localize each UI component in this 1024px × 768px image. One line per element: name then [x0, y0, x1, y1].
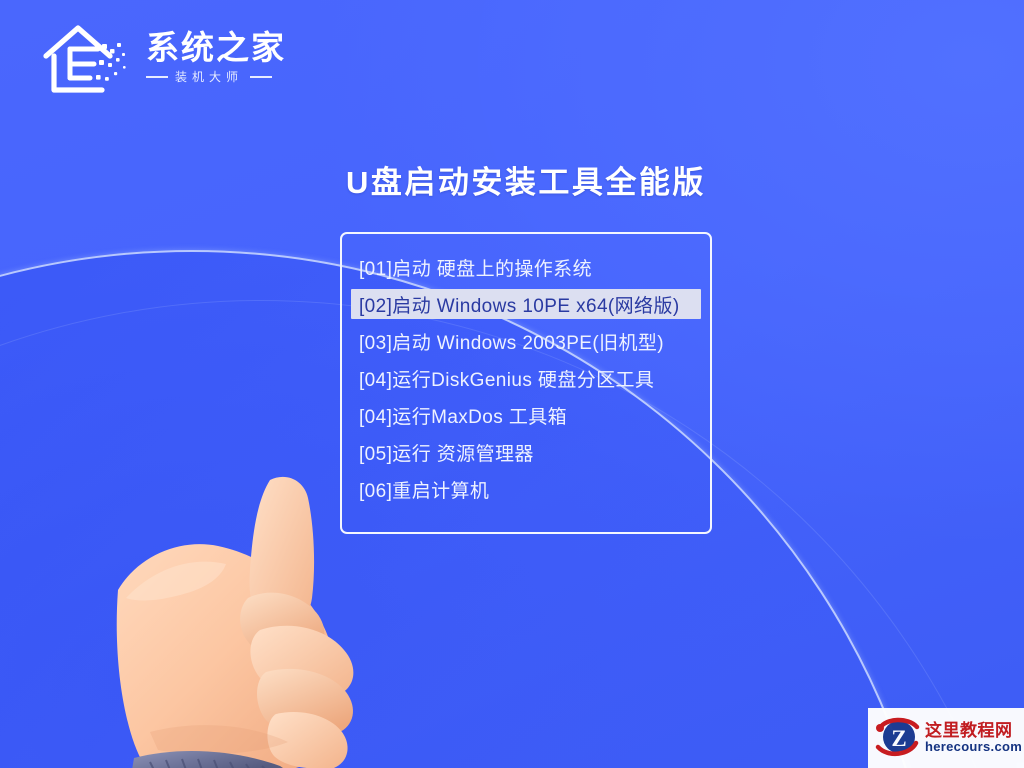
brand-wordmark: 系统之家 装机大师 [146, 31, 286, 86]
watermark-site-name: 这里教程网 [925, 721, 1022, 741]
tagline-rule-left [146, 76, 168, 78]
svg-text:Z: Z [891, 726, 906, 751]
house-pixel-logo-icon [40, 18, 132, 98]
menu-item-03[interactable]: [03]启动 Windows 2003PE(旧机型) [351, 326, 701, 356]
boot-menu-screen: 系统之家 装机大师 U盘启动安装工具全能版 [01]启动 硬盘上的操作系统 [0… [0, 0, 1024, 768]
menu-item-02[interactable]: [02]启动 Windows 10PE x64(网络版) [351, 289, 701, 319]
pointing-hand-illustration-icon [110, 470, 450, 768]
menu-item-01[interactable]: [01]启动 硬盘上的操作系统 [351, 252, 701, 282]
brand-tagline-row: 装机大师 [146, 68, 286, 85]
brand-logo: 系统之家 装机大师 [40, 18, 286, 98]
brand-tagline: 装机大师 [175, 68, 243, 85]
menu-item-05[interactable]: [05]运行 资源管理器 [351, 437, 701, 467]
tagline-rule-right [250, 76, 272, 78]
menu-item-04-maxdos[interactable]: [04]运行MaxDos 工具箱 [351, 400, 701, 430]
menu-item-04-diskgenius[interactable]: [04]运行DiskGenius 硬盘分区工具 [351, 363, 701, 393]
brand-name: 系统之家 [146, 31, 286, 66]
watermark: Z 这里教程网 herecours.com [868, 708, 1024, 768]
page-title: U盘启动安装工具全能版 [346, 157, 706, 202]
watermark-domain: herecours.com [925, 740, 1022, 755]
watermark-badge-icon: Z [874, 715, 920, 761]
watermark-text: 这里教程网 herecours.com [925, 721, 1022, 755]
